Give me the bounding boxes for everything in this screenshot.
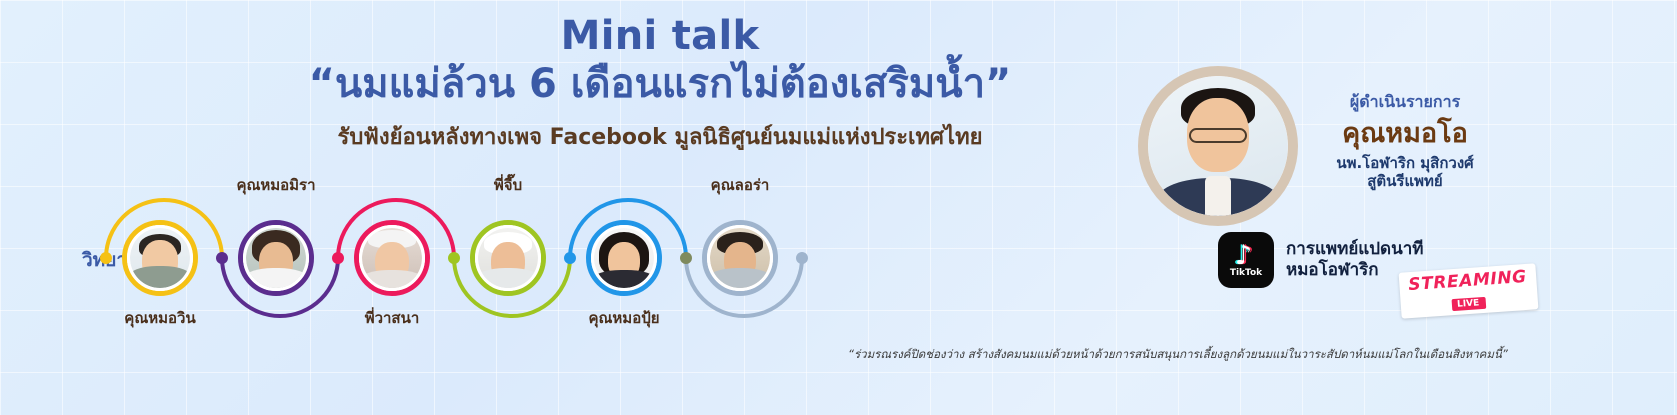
streaming-badge: STREAMING LIVE xyxy=(1399,263,1538,318)
speaker-caption: พี่จี๊บ xyxy=(448,173,568,197)
speakers-timeline: คุณหมอวิน คุณหมอมิรา xyxy=(0,178,1060,353)
speaker-avatar[interactable] xyxy=(122,220,198,296)
host-fullname: นพ.โอฬาริก มุสิกวงศ์ xyxy=(1290,154,1520,173)
speaker-avatar[interactable] xyxy=(238,220,314,296)
tiktok-channel[interactable]: ♪ ♪ ♪ TikTok การแพทย์แปดนาที หมอโอฬาริก xyxy=(1218,232,1423,288)
timeline-dot xyxy=(680,252,692,264)
timeline-dot xyxy=(216,252,228,264)
footer-note: “ร่วมรณรงค์ปิดช่องว่าง สร้างสังคมนมแม่ด้… xyxy=(848,346,1548,364)
timeline-dot xyxy=(448,252,460,264)
host-info: ผู้ดำเนินรายการ คุณหมอโอ นพ.โอฬาริก มุสิ… xyxy=(1290,90,1520,191)
host-photo xyxy=(1148,76,1288,216)
timeline-dot xyxy=(564,252,576,264)
speaker-photo xyxy=(594,228,654,288)
host-role-label: ผู้ดำเนินรายการ xyxy=(1290,90,1520,115)
host-nickname: คุณหมอโอ xyxy=(1290,119,1520,149)
speaker-photo xyxy=(478,228,538,288)
speaker-photo xyxy=(362,228,422,288)
headline-block: Mini talk “นมแม่ล้วน 6 เดือนแรกไม่ต้องเส… xyxy=(260,14,1060,151)
streaming-label: STREAMING xyxy=(1408,267,1528,295)
speaker-caption: คุณลอร่า xyxy=(680,173,800,197)
speaker-avatar[interactable] xyxy=(586,220,662,296)
live-badge: LIVE xyxy=(1452,297,1487,311)
speaker-avatar[interactable] xyxy=(354,220,430,296)
speaker-avatar[interactable] xyxy=(470,220,546,296)
host-specialty: สูตินรีแพทย์ xyxy=(1290,172,1520,191)
speaker-avatar[interactable] xyxy=(702,220,778,296)
tiktok-icon[interactable]: ♪ ♪ ♪ TikTok xyxy=(1218,232,1274,288)
speaker-caption: คุณหมอวิน xyxy=(100,306,220,330)
timeline-dot xyxy=(332,252,344,264)
speaker-caption: คุณหมอมิรา xyxy=(216,173,336,197)
speaker-caption: คุณหมอปุ้ย xyxy=(564,306,684,330)
headline-subtitle: รับฟังย้อนหลังทางเพจ Facebook มูลนิธิศูน… xyxy=(260,125,1060,151)
headline-quote: “นมแม่ล้วน 6 เดือนแรกไม่ต้องเสริมน้ำ” xyxy=(260,61,1060,107)
timeline-dot xyxy=(100,252,112,264)
speaker-caption: พี่วาสนา xyxy=(332,306,452,330)
event-banner: Mini talk “นมแม่ล้วน 6 เดือนแรกไม่ต้องเส… xyxy=(0,0,1677,415)
speaker-photo xyxy=(246,228,306,288)
channel-name-line1: การแพทย์แปดนาที xyxy=(1286,239,1423,260)
headline-title: Mini talk xyxy=(260,14,1060,59)
speaker-photo xyxy=(130,228,190,288)
speaker-photo xyxy=(710,228,770,288)
timeline-dot xyxy=(796,252,808,264)
host-avatar[interactable] xyxy=(1138,66,1298,226)
